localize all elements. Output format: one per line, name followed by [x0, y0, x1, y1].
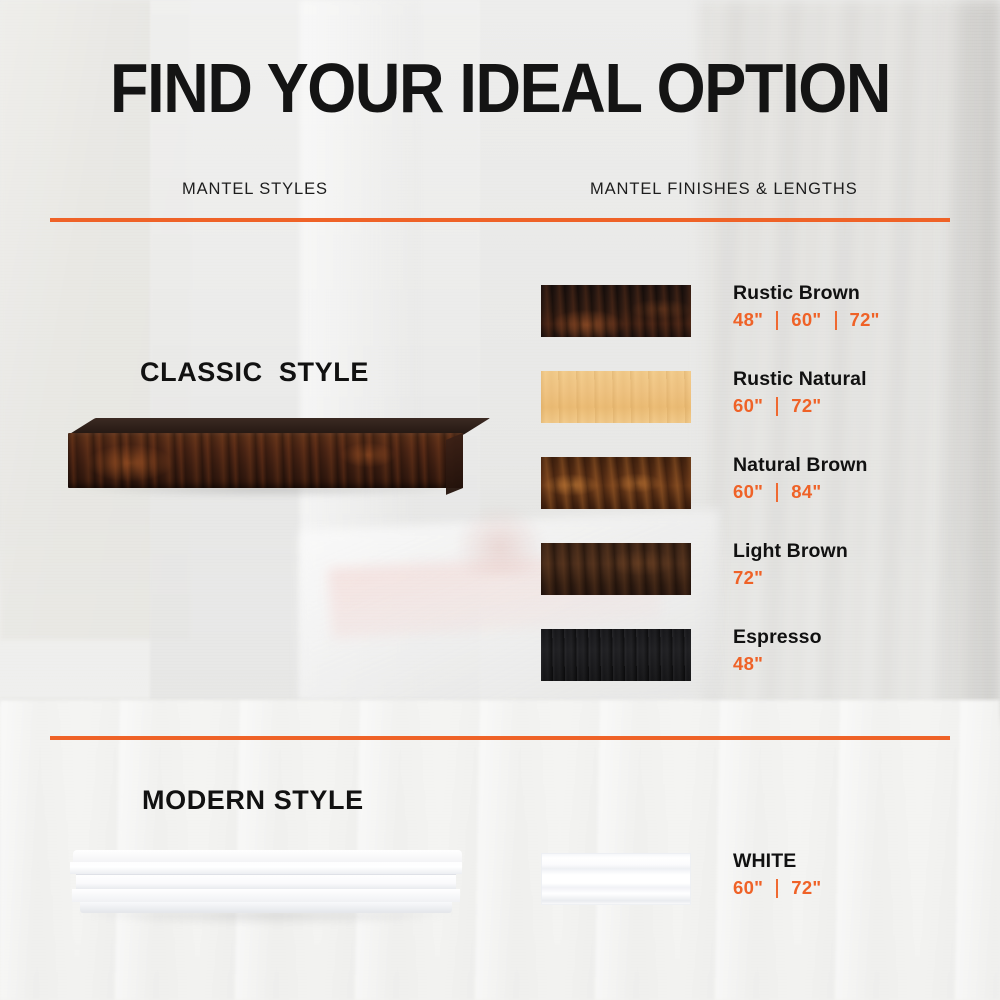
beam-end-face: [446, 433, 463, 495]
swatch-espresso: [541, 629, 691, 681]
size-option: 60": [791, 309, 821, 331]
size-separator: [776, 397, 778, 416]
style-label-classic: CLASSIC STYLE: [140, 357, 369, 388]
mantel-band-2: [76, 874, 456, 889]
style-label-modern: MODERN STYLE: [142, 785, 364, 816]
finish-name: Natural Brown: [733, 454, 963, 476]
finish-info: Rustic Natural 60" 72": [733, 368, 963, 417]
column-header-mantel-styles: MANTEL STYLES: [182, 180, 328, 199]
finish-name: Rustic Natural: [733, 368, 963, 390]
swatch-rustic-natural: [541, 371, 691, 423]
finish-info: WHITE 60" 72": [733, 850, 963, 899]
finish-info: Natural Brown 60" 84": [733, 454, 963, 503]
divider-rule-top: [50, 218, 950, 222]
mantel-band-3: [72, 889, 460, 902]
size-separator: [835, 311, 837, 330]
finish-info: Rustic Brown 48" 60" 72": [733, 282, 963, 331]
divider-rule-bottom: [50, 736, 950, 740]
size-option: 60": [733, 481, 763, 503]
finish-sizes: 60" 72": [733, 877, 963, 899]
size-separator: [776, 879, 778, 898]
swatch-natural-brown: [541, 457, 691, 509]
page-title: FIND YOUR IDEAL OPTION: [95, 52, 905, 124]
size-separator: [776, 483, 778, 502]
finish-info: Light Brown 72": [733, 540, 963, 589]
size-option: 84": [791, 481, 821, 503]
finish-row-rustic-brown: Rustic Brown 48" 60" 72": [541, 285, 961, 341]
finish-row-light-brown: Light Brown 72": [541, 543, 961, 599]
finish-row-white: WHITE 60" 72": [541, 853, 961, 909]
classic-mantel-image: [68, 418, 463, 488]
size-option: 72": [791, 877, 821, 899]
content-layer: FIND YOUR IDEAL OPTION MANTEL STYLES MAN…: [0, 0, 1000, 1000]
beam-front-face: [68, 433, 463, 488]
mantel-band-4: [80, 902, 452, 913]
modern-mantel-image: [70, 850, 462, 916]
size-option: 48": [733, 309, 763, 331]
finish-sizes: 60" 84": [733, 481, 963, 503]
finish-name: Espresso: [733, 626, 963, 648]
size-option: 72": [791, 395, 821, 417]
size-option: 60": [733, 395, 763, 417]
size-option: 72": [733, 567, 763, 589]
finish-sizes: 48" 60" 72": [733, 309, 963, 331]
finish-name: WHITE: [733, 850, 963, 872]
size-separator: [776, 311, 778, 330]
finish-sizes: 48": [733, 653, 963, 675]
finish-info: Espresso 48": [733, 626, 963, 675]
mantel-band-1: [70, 862, 462, 874]
swatch-light-brown: [541, 543, 691, 595]
finish-row-espresso: Espresso 48": [541, 629, 961, 685]
finish-row-rustic-natural: Rustic Natural 60" 72": [541, 371, 961, 427]
swatch-white: [541, 853, 691, 905]
finish-sizes: 72": [733, 567, 963, 589]
size-option: 72": [850, 309, 880, 331]
finish-name: Rustic Brown: [733, 282, 963, 304]
size-option: 48": [733, 653, 763, 675]
infographic-page: FIND YOUR IDEAL OPTION MANTEL STYLES MAN…: [0, 0, 1000, 1000]
finish-row-natural-brown: Natural Brown 60" 84": [541, 457, 961, 513]
finish-name: Light Brown: [733, 540, 963, 562]
size-option: 60": [733, 877, 763, 899]
finish-sizes: 60" 72": [733, 395, 963, 417]
column-header-mantel-finishes: MANTEL FINISHES & LENGTHS: [590, 180, 858, 199]
swatch-rustic-brown: [541, 285, 691, 337]
